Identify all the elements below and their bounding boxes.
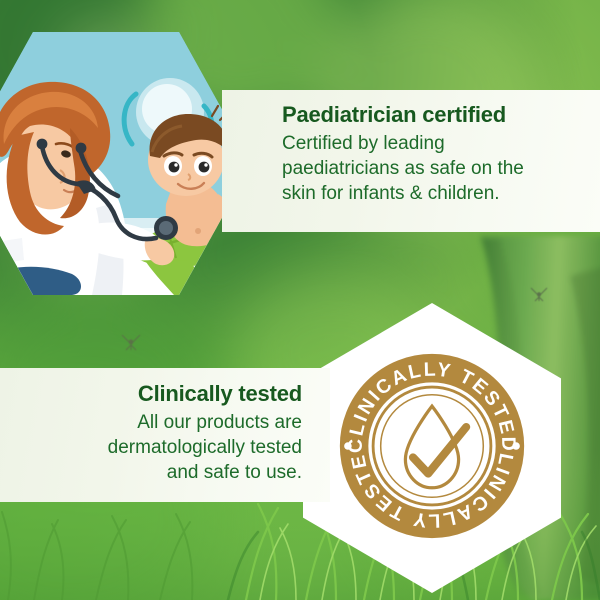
feature-panel-clinically-tested: Clinically tested All our products are d… [0,368,330,502]
feature-title: Paediatrician certified [282,101,576,129]
feature-description: Certified by leading paediatricians as s… [282,131,576,206]
feature-title: Clinically tested [0,380,302,408]
clinically-tested-seal: CLINICALLY TESTED CLINICALLY TESTED [337,351,527,541]
feature-panel-paediatrician: Paediatrician certified Certified by lea… [222,90,600,232]
banner-canvas: CLINICALLY TESTED CLINICALLY TESTED Paed… [0,0,600,600]
mosquito-icon [118,332,144,352]
feature-description: All our products are dermatologically te… [0,410,302,485]
mosquito-icon [528,286,550,303]
